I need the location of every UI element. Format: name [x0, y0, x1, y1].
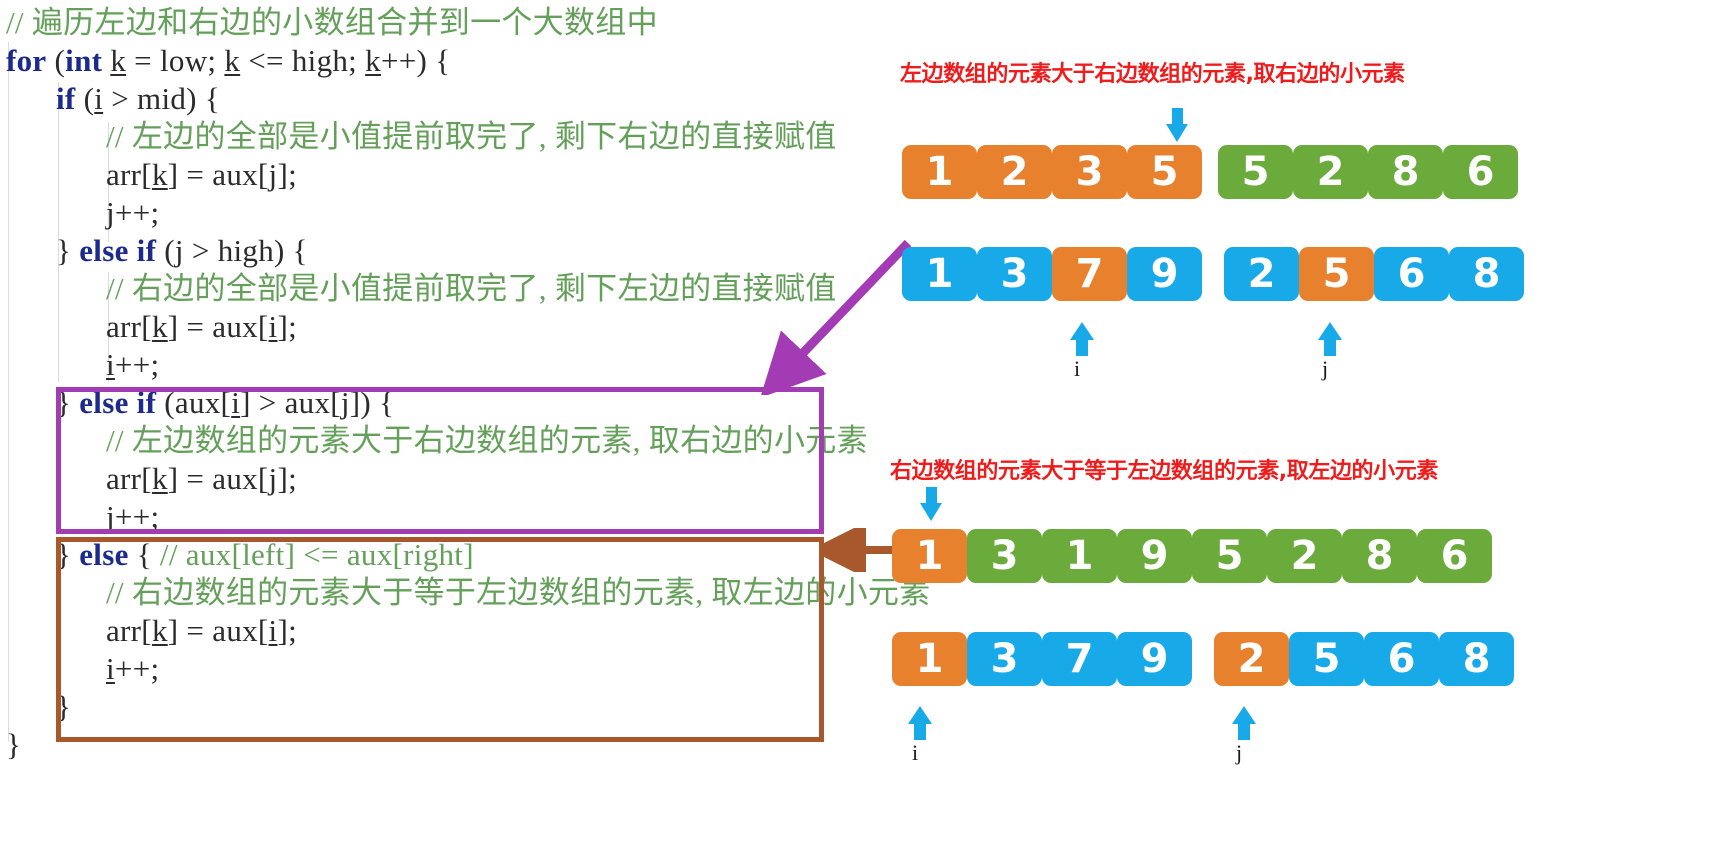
array-cell: 9 — [1127, 247, 1202, 301]
down-arrow-bottom — [920, 487, 942, 521]
merged-array-bottom: 13195286 — [892, 529, 1492, 583]
code-token: i — [106, 347, 115, 382]
array-cell: 3 — [1052, 145, 1127, 199]
indent-guide — [8, 42, 9, 742]
code-token: j++; — [106, 499, 159, 534]
code-token: // 左边的全部是小值提前取完了, 剩下右边的直接赋值 — [106, 119, 837, 154]
array-cell: 1 — [892, 632, 967, 686]
array-cell: 5 — [1289, 632, 1364, 686]
code-line: } — [56, 690, 71, 724]
code-token: arr[ — [106, 613, 152, 648]
array-cell: 6 — [1417, 529, 1492, 583]
code-token: if — [56, 81, 76, 116]
code-token: i — [106, 651, 115, 686]
code-token: else — [79, 537, 128, 572]
code-token: k — [224, 43, 240, 78]
code-token: ]; — [277, 309, 297, 344]
source-arrays-bottom-right: 2568 — [1214, 632, 1514, 686]
code-token: j++; — [106, 195, 159, 230]
code-line: // 右边的全部是小值提前取完了, 剩下左边的直接赋值 — [106, 272, 837, 306]
up-arrow-i-top — [1070, 322, 1094, 356]
pointer-label-j-bottom: j — [1236, 740, 1242, 766]
code-line: } else { // aux[left] <= aux[right] — [56, 538, 474, 572]
code-token: ( — [46, 43, 65, 78]
code-token: } — [56, 233, 79, 268]
source-arrays-top-left: 1379 — [902, 247, 1202, 301]
array-cell: 8 — [1368, 145, 1443, 199]
array-cell: 2 — [1214, 632, 1289, 686]
code-token: = low; — [126, 43, 224, 78]
up-arrow-i-bottom — [908, 706, 932, 740]
code-token: k — [152, 309, 168, 344]
code-token: else if — [79, 385, 156, 420]
code-token: arr[ — [106, 309, 152, 344]
code-token: i — [94, 81, 103, 116]
code-line: arr[k] = aux[j]; — [106, 158, 297, 192]
up-arrow-j-bottom — [1232, 706, 1256, 740]
array-cell: 2 — [1267, 529, 1342, 583]
array-cell: 1 — [892, 529, 967, 583]
array-cell: 2 — [1224, 247, 1299, 301]
array-cell: 5 — [1218, 145, 1293, 199]
array-cell: 1 — [1042, 529, 1117, 583]
code-token: arr[ — [106, 157, 152, 192]
code-token: k — [110, 43, 126, 78]
code-token: // 右边的全部是小值提前取完了, 剩下左边的直接赋值 — [106, 271, 837, 306]
code-token: ++; — [115, 651, 159, 686]
code-line: i++; — [106, 348, 159, 382]
code-token: ] = aux[ — [168, 309, 269, 344]
code-line: // 遍历左边和右边的小数组合并到一个大数组中 — [6, 6, 658, 40]
code-line: arr[k] = aux[i]; — [106, 310, 297, 344]
array-cell: 5 — [1192, 529, 1267, 583]
array-cell: 5 — [1127, 145, 1202, 199]
code-token: // aux[left] <= aux[right] — [160, 537, 474, 572]
code-line: i++; — [106, 652, 159, 686]
code-line: arr[k] = aux[i]; — [106, 614, 297, 648]
code-token: <= high; — [240, 43, 365, 78]
code-token: ( — [76, 81, 95, 116]
code-line: // 左边数组的元素大于右边数组的元素, 取右边的小元素 — [106, 424, 868, 458]
code-token: > mid) { — [103, 81, 220, 116]
code-token: // 左边数组的元素大于右边数组的元素, 取右边的小元素 — [106, 423, 868, 458]
code-token: ] = aux[ — [168, 613, 269, 648]
diagram-panel: 左边数组的元素大于右边数组的元素,取右边的小元素 12355286 1379 2… — [880, 0, 1714, 860]
array-cell: 3 — [967, 529, 1042, 583]
up-arrow-j-top — [1318, 322, 1342, 356]
code-token: arr[ — [106, 461, 152, 496]
code-token: } — [56, 385, 79, 420]
code-token: { — [129, 537, 160, 572]
code-token: // 遍历左边和右边的小数组合并到一个大数组中 — [6, 5, 658, 40]
code-token: ++) { — [381, 43, 450, 78]
source-arrays-bottom-left: 1379 — [892, 632, 1192, 686]
array-cell: 6 — [1443, 145, 1518, 199]
pointer-label-i-top: i — [1074, 356, 1080, 382]
pointer-label-j-top: j — [1322, 356, 1328, 382]
code-token: k — [152, 157, 168, 192]
down-arrow-top — [1166, 108, 1188, 142]
array-cell: 1 — [902, 145, 977, 199]
array-cell: 7 — [1052, 247, 1127, 301]
code-line: // 左边的全部是小值提前取完了, 剩下右边的直接赋值 — [106, 120, 837, 154]
code-line: for (int k = low; k <= high; k++) { — [6, 44, 450, 78]
code-token: else if — [79, 233, 156, 268]
array-cell: 8 — [1342, 529, 1417, 583]
array-split-gap — [1202, 145, 1218, 199]
code-token: (aux[ — [156, 385, 231, 420]
array-cell: 3 — [977, 247, 1052, 301]
indent-guide — [58, 82, 59, 382]
code-panel: // 遍历左边和右边的小数组合并到一个大数组中for (int k = low;… — [0, 0, 900, 860]
code-token: } — [56, 689, 71, 724]
array-cell: 7 — [1042, 632, 1117, 686]
code-line: j++; — [106, 196, 159, 230]
code-line: arr[k] = aux[j]; — [106, 462, 297, 496]
array-cell: 8 — [1449, 247, 1524, 301]
array-cell: 9 — [1117, 632, 1192, 686]
array-cell: 8 — [1439, 632, 1514, 686]
code-token: ] = aux[j]; — [168, 157, 297, 192]
code-line: } else if (j > high) { — [56, 234, 308, 268]
merged-array-top: 12355286 — [902, 145, 1518, 199]
array-cell: 6 — [1374, 247, 1449, 301]
code-token: k — [152, 461, 168, 496]
caption-bottom: 右边数组的元素大于等于左边数组的元素,取左边的小元素 — [890, 453, 1438, 485]
array-cell: 2 — [977, 145, 1052, 199]
code-token: for — [6, 43, 46, 78]
code-line: } else if (aux[i] > aux[j]) { — [56, 386, 394, 420]
caption-top: 左边数组的元素大于右边数组的元素,取右边的小元素 — [900, 56, 1405, 88]
code-token: k — [152, 613, 168, 648]
source-arrays-top-right: 2568 — [1224, 247, 1524, 301]
array-cell: 5 — [1299, 247, 1374, 301]
code-token: int — [65, 43, 102, 78]
code-token: ] > aux[j]) { — [240, 385, 394, 420]
code-token: i — [231, 385, 240, 420]
code-token: k — [365, 43, 381, 78]
code-line: } — [6, 728, 21, 762]
code-token: // 右边数组的元素大于等于左边数组的元素, 取左边的小元素 — [106, 575, 930, 610]
array-cell: 9 — [1117, 529, 1192, 583]
code-token: ]; — [277, 613, 297, 648]
code-token: ] = aux[j]; — [168, 461, 297, 496]
code-line: if (i > mid) { — [56, 82, 220, 116]
pointer-label-i-bottom: i — [912, 740, 918, 766]
code-token: (j > high) { — [156, 233, 308, 268]
array-cell: 1 — [902, 247, 977, 301]
array-cell: 6 — [1364, 632, 1439, 686]
code-token: } — [6, 727, 21, 762]
code-line: j++; — [106, 500, 159, 534]
array-cell: 2 — [1293, 145, 1368, 199]
code-token: ++; — [115, 347, 159, 382]
array-cell: 3 — [967, 632, 1042, 686]
code-line: // 右边数组的元素大于等于左边数组的元素, 取左边的小元素 — [106, 576, 930, 610]
code-token: } — [56, 537, 79, 572]
